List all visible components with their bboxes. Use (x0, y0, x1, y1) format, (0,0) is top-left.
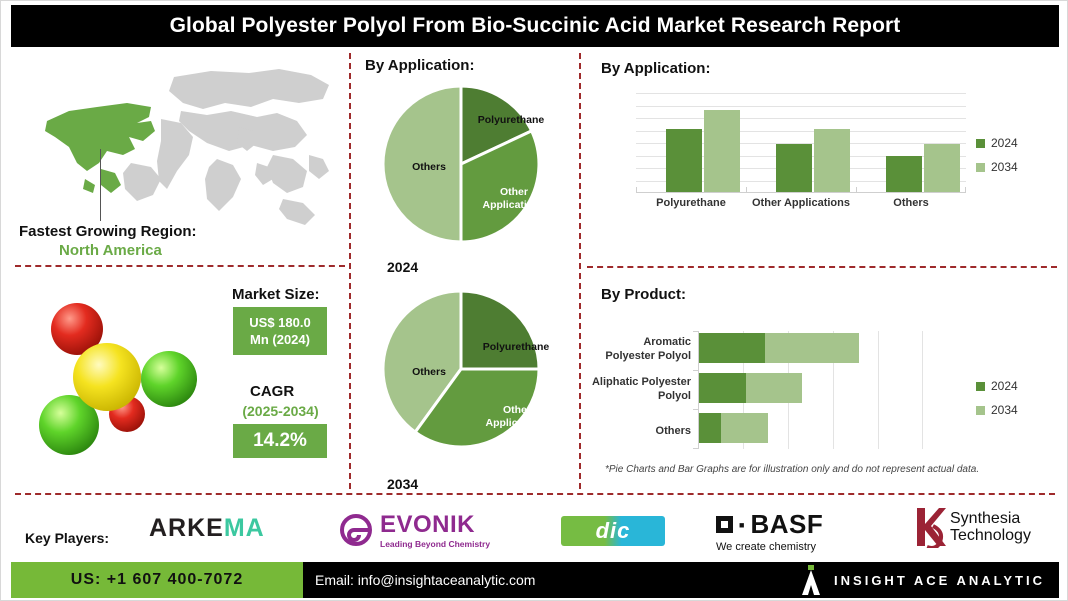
hbar-category-aliphatic: Aliphatic Polyester Polyol (591, 375, 691, 403)
footer-brand: INSIGHT ACE ANALYTIC (800, 565, 1045, 595)
hbar-others-2034 (721, 413, 768, 443)
pie-chart-2024 (368, 84, 554, 244)
header-bar: Global Polyester Polyol From Bio-Succini… (11, 5, 1059, 47)
hbar-category-others-label: Others (656, 425, 691, 437)
infographic-page: Global Polyester Polyol From Bio-Succini… (0, 0, 1068, 601)
logo-synthesia-line1: Synthesia (950, 510, 1031, 527)
cagr-box: 14.2% (233, 424, 327, 458)
bar-chart-application (636, 93, 966, 193)
legend-label-product-2024: 2024 (991, 379, 1018, 393)
divider-horizontal-left (15, 265, 345, 267)
logo-synthesia: Synthesia Technology (913, 506, 1031, 548)
map-leader-line (100, 149, 101, 221)
footer-phone: US: +1 607 400-7072 (71, 571, 243, 589)
logo-arkema: ARKEMA (149, 514, 265, 543)
hbar-aromatic (699, 333, 859, 363)
logo-basf-tagline: We create chemistry (716, 541, 823, 553)
bar-category-others: Others (856, 197, 966, 209)
bar-application-title: By Application: (601, 60, 710, 77)
pie-2034-year: 2034 (387, 476, 418, 492)
basf-mark-icon (716, 516, 733, 533)
pie-2034-label-polyurethane: Polyurethane (473, 341, 559, 354)
world-map-icon (11, 59, 341, 234)
synthesia-mark-icon (913, 506, 947, 548)
fastest-growing-region-value: North America (59, 242, 162, 259)
bar-group-others (886, 144, 960, 192)
page-title: Global Polyester Polyol From Bio-Succini… (170, 14, 901, 38)
pie-2034-label-other-applications: Other Applications (474, 404, 560, 430)
pie-2024-year: 2024 (387, 259, 418, 275)
legend-bar-application: 2024 2034 (976, 136, 1018, 184)
cagr-years: (2025-2034) (233, 403, 328, 419)
bar-category-other-applications: Other Applications (746, 197, 856, 209)
logo-evonik-tagline: Leading Beyond Chemistry (380, 539, 490, 549)
hbar-aliphatic-2034 (746, 373, 802, 403)
logo-dic-text: dic (596, 518, 631, 544)
market-size-box: US$ 180.0 Mn (2024) (233, 307, 327, 355)
legend-swatch-product-2024 (976, 382, 985, 391)
hbar-category-aromatic: Aromatic Polyester Polyol (591, 335, 691, 363)
legend-swatch-2024 (976, 139, 985, 148)
logo-basf-text: BASF (750, 509, 823, 540)
footer-email: Email: info@insightaceanalytic.com (315, 572, 535, 588)
molecule-icon (29, 301, 214, 466)
bar-polyurethane-2024 (666, 129, 702, 192)
evonik-mark-icon (339, 513, 373, 547)
hbar-aromatic-2034 (765, 333, 859, 363)
bar-category-polyurethane: Polyurethane (636, 197, 746, 209)
footer-bar: Email: info@insightaceanalytic.com INSIG… (303, 562, 1059, 598)
hbar-aromatic-2024 (699, 333, 765, 363)
logo-evonik-text: EVONIK (380, 511, 490, 539)
bar-other-applications-2024 (776, 144, 812, 192)
logo-dic: dic (561, 516, 665, 546)
divider-horizontal-right (587, 266, 1057, 268)
pie-2024-label-other-applications: Other Applications (471, 186, 557, 212)
hbar-others (699, 413, 768, 443)
hbar-others-2024 (699, 413, 721, 443)
divider-horizontal-bottom (15, 493, 1055, 495)
chart-footnote: *Pie Charts and Bar Graphs are for illus… (605, 464, 979, 475)
pie-2024-label-others: Others (399, 161, 459, 174)
pies-title: By Application: (365, 57, 474, 74)
bar-polyurethane-2034 (704, 110, 740, 192)
logo-evonik: EVONIK Leading Beyond Chemistry (339, 511, 490, 549)
bar-group-polyurethane (666, 110, 740, 192)
hbar-aliphatic-2024 (699, 373, 746, 403)
legend-bar-product: 2024 2034 (976, 379, 1018, 427)
legend-swatch-product-2034 (976, 406, 985, 415)
bar-product-title: By Product: (601, 286, 686, 303)
bar-others-2034 (924, 144, 960, 192)
bar-other-applications-2034 (814, 129, 850, 192)
hbar-category-aliphatic-label: Aliphatic Polyester Polyol (592, 376, 691, 402)
market-size-line1: US$ 180.0 (249, 314, 310, 331)
legend-label-2024: 2024 (991, 136, 1018, 150)
market-size-title: Market Size: (232, 286, 320, 303)
key-players-label: Key Players: (25, 530, 109, 546)
legend-label-2034: 2034 (991, 160, 1018, 174)
pie-2034-label-others: Others (399, 366, 459, 379)
cagr-value: 14.2% (253, 430, 307, 452)
bar-others-2024 (886, 156, 922, 192)
a-logo-icon (800, 565, 822, 595)
cagr-title: CAGR (250, 383, 294, 400)
logo-basf: ■ BASF We create chemistry (716, 509, 823, 553)
footer-brand-text: INSIGHT ACE ANALYTIC (834, 573, 1045, 588)
divider-vertical-left (349, 53, 351, 489)
pie-2024-label-polyurethane: Polyurethane (466, 114, 556, 127)
logo-arkema-part1: ARKE (149, 514, 224, 542)
legend-label-product-2034: 2034 (991, 403, 1018, 417)
divider-vertical-right (579, 53, 581, 489)
basf-dot-icon: ■ (739, 520, 744, 530)
footer-phone-box: US: +1 607 400-7072 (11, 562, 303, 598)
bar-group-other-applications (776, 129, 850, 192)
hbar-category-aromatic-label: Aromatic Polyester Polyol (605, 336, 691, 362)
market-size-line2: Mn (2024) (250, 331, 310, 348)
hbar-category-others: Others (591, 424, 691, 438)
legend-swatch-2034 (976, 163, 985, 172)
logo-arkema-part2: MA (224, 514, 265, 542)
bar-chart-product (698, 331, 923, 449)
logo-synthesia-line2: Technology (950, 527, 1031, 544)
hbar-aliphatic (699, 373, 802, 403)
fastest-growing-region-label: Fastest Growing Region: (19, 223, 197, 240)
